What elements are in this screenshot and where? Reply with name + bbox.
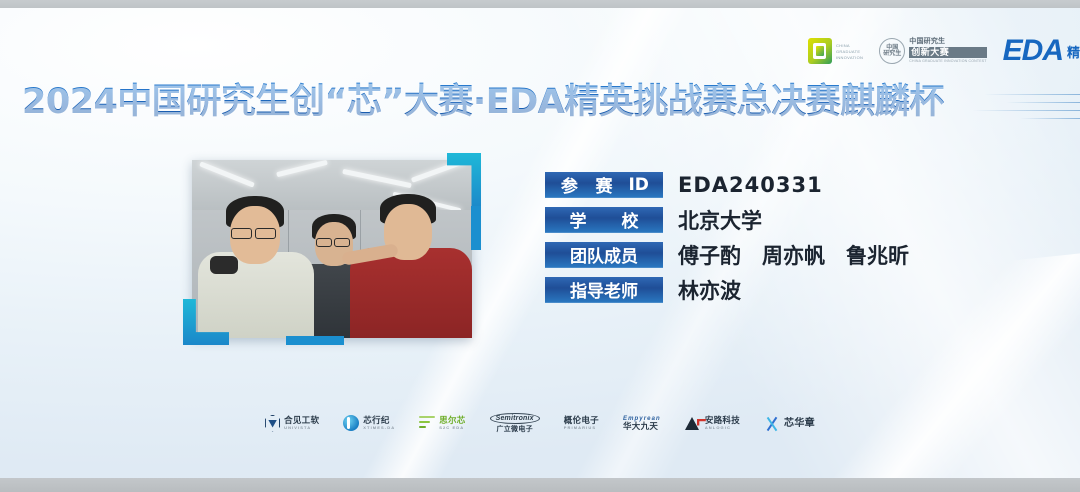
person-right (350, 188, 472, 338)
team-photo-frame (192, 160, 472, 338)
sponsor-name-en: UNIVISTA (284, 425, 319, 431)
sponsor-name-cn: 芯华章 (784, 419, 815, 428)
sponsor-name-en: PRIMARIUS (564, 425, 599, 431)
sponsor-xtimes: 芯行纪 XTIMES-DA (343, 409, 395, 437)
sponsor-name-cn: 广立微电子 (496, 425, 533, 434)
badge-line-3: CHINA GRADUATE INNOVATION CONTEST (909, 59, 986, 64)
title-area: 2024中国研究生创“芯”大赛·EDA精英挑战赛总决赛麒麟杯 (0, 76, 1080, 132)
sponsor-name-cn: 合见工软 (284, 416, 319, 425)
badge-line-2: 创新大赛 (909, 47, 986, 58)
value-participant-id: EDA240331 (678, 173, 823, 197)
seal-icon: 中国研究生 (879, 38, 905, 64)
label-participant-id: 参 赛 ID (545, 172, 663, 198)
label-char: 校 (604, 207, 656, 232)
jingsai-line-3: INNOVATION (836, 55, 863, 60)
label-char: 团队成员 (552, 242, 656, 267)
hand-detail (210, 256, 238, 274)
sponsor-bar: 合见工软 UNIVISTA 芯行纪 XTIMES-DA 思尔芯 S2C EDA (0, 406, 1080, 440)
sponsor-name-cn: 安路科技 (705, 416, 740, 425)
sponsor-s2c: 思尔芯 S2C EDA (419, 409, 465, 437)
window-chrome-top (0, 0, 1080, 8)
semitronix-icon: Semitronix 广立微电子 (490, 413, 540, 434)
team-photo (192, 160, 472, 338)
primarius-icon: 概伦电子 PRIMARIUS (564, 416, 599, 431)
info-row: 参 赛 ID EDA240331 (545, 168, 909, 201)
window-chrome-bottom (0, 478, 1080, 492)
xtimes-icon (343, 415, 359, 431)
sponsor-univista: 合见工软 UNIVISTA (265, 409, 319, 437)
s2c-icon (419, 416, 435, 430)
sponsor-name-en: ANLOGIC (705, 425, 740, 431)
jingsai-mark-logo: CHINA GRADUATE INNOVATION (808, 38, 863, 64)
page-title: 2024中国研究生创“芯”大赛·EDA精英挑战赛总决赛麒麟杯 (22, 76, 944, 128)
sponsor-xinhuazhang: 芯华章 (764, 409, 815, 437)
value-team-members: 傅子酌 周亦帆 鲁兆昕 (678, 240, 909, 270)
info-row: 团队成员 傅子酌 周亦帆 鲁兆昕 (545, 238, 909, 271)
sponsor-empyrean: Empyrean 华大九天 (623, 409, 661, 437)
info-row: 指导老师 林亦波 (545, 273, 909, 306)
value-school: 北京大学 (678, 205, 762, 235)
sponsor-anlogic: 安路科技 ANLOGIC (685, 409, 740, 437)
sponsor-name-cn: 思尔芯 (439, 416, 465, 425)
empyrean-icon: Empyrean 华大九天 (623, 416, 661, 431)
xinhuazhang-icon (764, 416, 780, 431)
label-char: 赛 (587, 172, 622, 197)
competition-square-icon (808, 38, 832, 64)
jingsai-mark-text: CHINA GRADUATE INNOVATION (836, 43, 863, 60)
label-advisor: 指导老师 (545, 277, 663, 303)
china-graduate-text: 中国研究生 创新大赛 CHINA GRADUATE INNOVATION CON… (909, 38, 986, 64)
sponsor-name-en: Semitronix (490, 413, 540, 424)
label-char: ID (621, 175, 656, 195)
jingsai-line-1: CHINA (836, 43, 863, 48)
label-char: 学 (552, 207, 604, 232)
eda-wordmark-text: EDA (1003, 36, 1063, 66)
photo-accent-right (471, 206, 481, 250)
info-row: 学 校 北京大学 (545, 203, 909, 236)
sponsor-name-cn: 华大九天 (623, 422, 661, 431)
label-school: 学 校 (545, 207, 663, 233)
univista-icon (265, 415, 280, 432)
label-char: 参 (552, 172, 587, 197)
top-logo-cluster: CHINA GRADUATE INNOVATION 中国研究生 中国研究生 创新… (808, 30, 1080, 72)
sponsor-name-cn: 芯行纪 (363, 416, 395, 425)
label-team-members: 团队成员 (545, 242, 663, 268)
sponsor-semitronix: Semitronix 广立微电子 (490, 409, 540, 437)
sponsor-name-en: S2C EDA (439, 425, 465, 431)
jingsai-line-2: GRADUATE (836, 49, 863, 54)
badge-line-1: 中国研究生 (909, 38, 986, 46)
sponsor-primarius: 概伦电子 PRIMARIUS (564, 409, 599, 437)
eda-wordmark-tail: 精 (1067, 42, 1080, 61)
value-advisor: 林亦波 (678, 275, 741, 305)
participant-info: 参 赛 ID EDA240331 学 校 北京大学 团队成员 傅子酌 周亦帆 鲁… (545, 168, 909, 308)
screen: CHINA GRADUATE INNOVATION 中国研究生 中国研究生 创新… (0, 0, 1080, 492)
eda-wordmark-logo: EDA 精 (1003, 36, 1080, 66)
sponsor-name-cn: 概伦电子 (564, 416, 599, 425)
label-char: 指导老师 (552, 277, 656, 302)
china-graduate-logo: 中国研究生 中国研究生 创新大赛 CHINA GRADUATE INNOVATI… (879, 38, 986, 64)
presentation-slide: CHINA GRADUATE INNOVATION 中国研究生 中国研究生 创新… (0, 8, 1080, 478)
anlogic-icon (685, 417, 701, 430)
sponsor-name-en: XTIMES-DA (363, 425, 395, 431)
title-decor-lines (960, 90, 1080, 124)
photo-accent-bottom (286, 336, 344, 345)
